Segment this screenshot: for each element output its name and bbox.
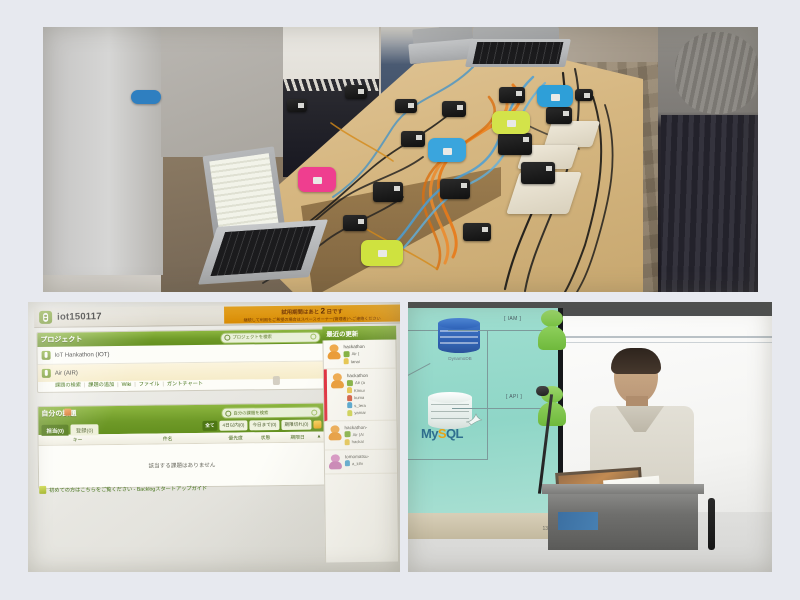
recent-update-item[interactable]: hackathon Air ( tanai [323,340,395,370]
startup-guide-link[interactable]: 初めての方はこちらをご覧ください - Backlogスタートアップガイド [49,484,207,493]
projects-panel-title: プロジェクト [40,334,82,345]
dynamodb-label: DynamoDB [436,356,484,361]
beige-router-1 [544,121,600,147]
tab-assigned[interactable]: 担当(0) [41,425,69,436]
black-sensor-box [499,87,525,103]
tab-created[interactable]: 登録(0) [71,424,99,435]
black-sensor-box [442,101,466,117]
update-user: tomomatsu- [345,453,394,459]
recent-update-item[interactable]: hackathon Air (a Kimur kuma s_tera yamar [324,369,397,421]
link-issue-search[interactable]: 課題の検索 [55,381,81,388]
link-gantt-chart[interactable]: ガントチャート [167,380,203,387]
screen-lower-wall [408,513,563,539]
black-sensor-box [440,179,470,199]
guide-book-icon [39,486,46,494]
backlog-header: iot150117 試用期間はあと 2 日です 継続して利用をご希望の場合はスペ… [34,304,400,328]
project-icon [42,369,51,378]
project-sub-links: 課題の検索| 課題の追加| Wiki| ファイル| ガントチャート [38,378,324,391]
black-sensor-box [575,89,593,101]
laptop-back-right-keyboard [473,42,564,64]
black-sensor-box [345,85,367,99]
update-line: hackat [352,439,364,444]
update-line: kuma [354,395,364,400]
issue-search-input[interactable]: 自分の課題を検索 [221,406,321,418]
mysql-wordmark: MySQL [421,426,463,441]
update-user: hackathon [343,344,392,350]
dynamodb-icon [438,318,480,354]
update-line: a_kihr [352,460,363,465]
avatar [328,425,341,440]
issue-search-placeholder: 自分の課題を検索 [233,410,268,416]
label-iam: [ IAM ] [504,316,521,322]
avatar [331,373,344,388]
column-due-date[interactable]: 期限日 [279,433,317,440]
update-line: s_tera [354,402,366,407]
grey-sweater-sleeve [675,32,758,114]
recent-update-item[interactable]: tomomatsu- a_kihr [325,449,397,474]
column-priority[interactable]: 優先度 [219,434,253,441]
clear-circle-icon[interactable] [310,334,316,340]
user-figure-icon [538,310,566,350]
avatar-mini-yellow [345,439,350,445]
black-sensor-box [343,215,367,231]
link-issue-add[interactable]: 課題の追加 [88,381,114,388]
my-issues-tabs: 担当(0) 登録(0) [38,421,98,436]
avatar-mini-yellow [347,410,352,416]
project-icon-green [344,351,350,357]
column-key[interactable]: キー [39,436,117,444]
avatar-mini-red [347,395,352,401]
update-line: yamar [354,410,366,415]
projects-panel: プロジェクト プロジェクトを検索 IoT Hankathon (IOT) Air… [36,328,325,393]
magnifier-icon [225,410,231,416]
update-user: hackathon- [344,424,393,430]
blue-device-case [131,90,161,104]
issues-icon [64,409,71,416]
column-status[interactable]: 状態 [253,434,279,441]
striped-skirt [661,115,758,292]
hackathon-workbench-photo [43,27,758,292]
avatar-mini-blue [347,402,352,408]
startup-guide[interactable]: 初めての方はこちらをご覧ください - Backlogスタートアップガイド [39,484,207,494]
black-sensor-box [546,107,572,124]
hanging-cable [708,498,715,550]
speaker-hair [611,348,661,374]
filter-within-4-days[interactable]: 4日以内(0) [219,420,247,430]
issues-empty-message: 該当する課題はありません [39,442,325,487]
avatar-mini-blue [345,460,350,466]
space-name: iot150117 [57,311,102,323]
filter-due-today[interactable]: 今日まで(0) [249,420,279,430]
black-sensor-box [463,223,491,241]
avatar [329,454,342,469]
project-name: Air (AIR) [55,370,78,376]
recent-update-item[interactable]: hackathon- Air (Al hackat [324,420,396,450]
project-search-placeholder: プロジェクトを検索 [232,334,272,340]
black-sensor-box [373,182,403,202]
blue-device-case [537,85,573,107]
yellow-device-case [361,240,403,266]
laptop-keyboard [211,226,316,276]
filter-overdue[interactable]: 期限切れ(0) [281,420,311,430]
rss-feed-icon[interactable] [313,420,321,428]
label-api: [ API ] [506,394,522,400]
project-icon-green [345,431,351,437]
backlog-project-screen-photo: iot150117 試用期間はあと 2 日です 継続して利用をご希望の場合はスペ… [28,302,400,572]
black-sensor-box [401,131,425,147]
update-user: hackathon [347,373,393,379]
update-line: tanai [351,359,360,364]
my-issues-filters: 全て 4日以内(0) 今日まで(0) 期限切れ(0) [202,419,321,430]
yellow-device-case [492,111,530,134]
mysql-dolphin-icon [464,408,484,426]
presentation-speaker-photo: DynamoDB MySQL [ IAM ] [ API ] 13 [408,302,772,572]
update-line: Air (Al [353,431,364,436]
recent-updates-header: 最近の更新 [322,326,396,341]
avatar-mini-yellow [344,358,349,364]
column-subject[interactable]: 件名 [117,434,219,442]
filter-all[interactable]: 全て [202,421,217,431]
black-sensor-box [287,99,307,112]
laptop-display-content [209,153,278,233]
project-icon-green [347,380,353,386]
update-line: Air ( [352,351,360,356]
podium [548,490,698,550]
link-wiki[interactable]: Wiki [122,381,132,387]
update-line: Air (a [355,380,365,385]
backlog-robot-icon [39,311,52,324]
blue-device-case [428,138,466,162]
clear-circle-icon[interactable] [311,409,317,415]
trial-banner-subtext: 継続して利用をご希望の場合はスペースオーナー(管理者)へご連絡ください [244,315,381,323]
avatar-mini-yellow [347,387,352,393]
trial-banner[interactable]: 試用期間はあと 2 日です 継続して利用をご希望の場合はスペースオーナー(管理者… [224,305,400,324]
black-sensor-box [498,133,532,155]
project-name: IoT Hankathon (IOT) [55,352,110,359]
project-search-input[interactable]: プロジェクトを検索 [220,331,320,343]
mouse-cursor [273,376,280,385]
recent-updates-title: 最近の更新 [326,329,358,338]
update-line: Kimur [354,387,365,392]
microphone-icon [536,386,549,396]
recent-updates-column: 最近の更新 hackathon Air ( tanai [322,326,399,563]
white-pillar [43,27,163,275]
black-sensor-box [521,162,555,184]
magnifier-icon [224,335,230,341]
pink-device-case [298,167,336,192]
black-sensor-box [395,99,417,113]
project-icon [42,351,51,360]
trial-banner-headline: 試用期間はあと 2 日です [281,306,342,316]
avatar [327,344,340,359]
link-files[interactable]: ファイル [139,380,160,387]
my-issues-panel: 自分の課題 自分の課題を検索 担当(0) 登録(0) 全て 4日以内(0) 今日… [37,402,326,489]
